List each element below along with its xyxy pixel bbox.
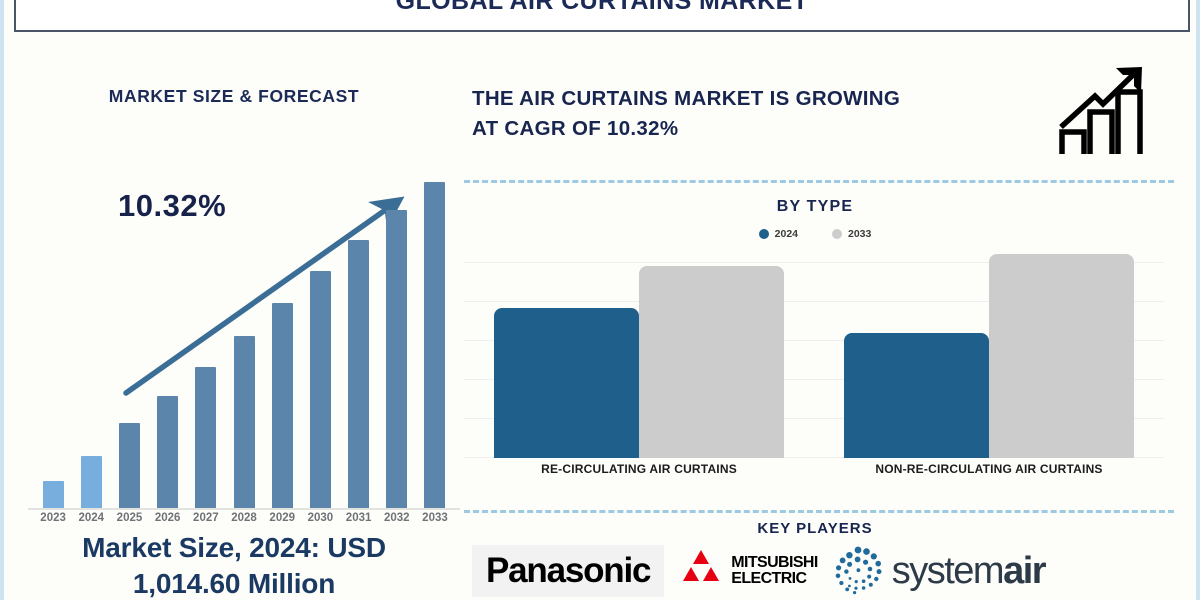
key-players-heading: KEY PLAYERS — [460, 520, 1170, 537]
left-panel-heading: MARKET SIZE & FORECAST — [8, 86, 460, 107]
axis-tick: 2032 — [378, 512, 416, 524]
legend-label: 2033 — [848, 228, 871, 240]
mitsubishi-electric-logo: MITSUBISHI ELECTRIC — [678, 549, 817, 593]
axis-tick: 2025 — [110, 512, 148, 524]
bar-slot — [416, 168, 454, 508]
systemair-logo: systemair — [832, 545, 1045, 597]
mitsubishi-line-2: ELECTRIC — [731, 571, 817, 587]
bar-group-non-re-circulating — [839, 250, 1139, 458]
cagr-statement-line-2: AT CAGR OF 10.32% — [472, 114, 1042, 144]
axis-tick: 2027 — [187, 512, 225, 524]
bar-non-re-circulating-2024 — [844, 333, 989, 458]
bar-2023 — [43, 481, 64, 508]
bar-slot — [263, 168, 301, 508]
legend-dot-icon — [832, 229, 842, 239]
bar-group-re-circulating — [489, 250, 789, 458]
by-type-chart — [464, 250, 1164, 458]
bar-slot — [301, 168, 339, 508]
axis-tick: 2033 — [416, 512, 454, 524]
key-players-logos: Panasonic MITSUBISHI ELECTRIC — [472, 542, 1162, 600]
systemair-dot-spiral-icon — [832, 545, 884, 597]
bar-2029 — [272, 303, 293, 508]
bar-2024 — [81, 456, 102, 508]
market-size-forecast-panel: MARKET SIZE & FORECAST 10.32% — [8, 38, 460, 596]
by-type-heading: BY TYPE — [460, 198, 1170, 216]
year-axis: 2023 2024 2025 2026 2027 2028 2029 2030 … — [34, 512, 454, 524]
bar-2032 — [386, 210, 407, 508]
axis-label-non-re-circulating: NON-RE-CIRCULATING AIR CURTAINS — [824, 462, 1154, 476]
axis-tick: 2024 — [72, 512, 110, 524]
mitsubishi-line-1: MITSUBISHI — [731, 555, 817, 571]
panasonic-logo: Panasonic — [472, 545, 664, 597]
axis-tick: 2031 — [340, 512, 378, 524]
bar-re-circulating-2024 — [494, 308, 639, 458]
page-title: GLOBAL AIR CURTAINS MARKET — [396, 0, 809, 16]
bar-slot — [340, 168, 378, 508]
logo-cell-panasonic: Panasonic — [472, 545, 664, 597]
axis-tick: 2026 — [149, 512, 187, 524]
chart-baseline — [28, 508, 460, 510]
bar-2025 — [119, 423, 140, 508]
bar-non-re-circulating-2033 — [989, 254, 1134, 458]
bar-slot — [149, 168, 187, 508]
logo-cell-systemair: systemair — [832, 545, 1045, 597]
right-panel: THE AIR CURTAINS MARKET IS GROWING AT CA… — [460, 38, 1200, 600]
axis-tick: 2029 — [263, 512, 301, 524]
mitsubishi-three-diamonds-icon — [678, 549, 724, 593]
legend-item-2033: 2033 — [832, 228, 871, 240]
axis-tick: 2028 — [225, 512, 263, 524]
by-type-bars — [464, 250, 1164, 458]
bar-slot — [187, 168, 225, 508]
bar-2031 — [348, 240, 369, 508]
market-size-line-1: Market Size, 2024: USD — [8, 530, 460, 566]
legend-item-2024: 2024 — [759, 228, 798, 240]
bar-slot — [378, 168, 416, 508]
systemair-part-1: system — [892, 550, 1003, 592]
infographic-root: GLOBAL AIR CURTAINS MARKET MARKET SIZE &… — [0, 0, 1200, 600]
by-type-axis: RE-CIRCULATING AIR CURTAINS NON-RE-CIRCU… — [464, 462, 1164, 476]
market-size-bar-chart — [34, 168, 454, 508]
cagr-statement: THE AIR CURTAINS MARKET IS GROWING AT CA… — [472, 84, 1042, 144]
mitsubishi-wordmark: MITSUBISHI ELECTRIC — [731, 555, 817, 587]
bar-2030 — [310, 271, 331, 508]
bar-2028 — [234, 336, 255, 508]
bar-slot — [34, 168, 72, 508]
bar-2027 — [195, 367, 216, 508]
axis-tick: 2023 — [34, 512, 72, 524]
systemair-part-2: air — [1003, 550, 1045, 592]
bar-slot — [225, 168, 263, 508]
legend-label: 2024 — [775, 228, 798, 240]
growth-chart-icon — [1048, 50, 1160, 162]
bar-slot — [72, 168, 110, 508]
legend-dot-icon — [759, 229, 769, 239]
by-type-legend: 2024 2033 — [460, 228, 1170, 240]
divider-top — [464, 180, 1174, 183]
divider-bottom — [464, 510, 1174, 513]
logo-cell-mitsubishi: MITSUBISHI ELECTRIC — [678, 549, 817, 593]
axis-label-re-circulating: RE-CIRCULATING AIR CURTAINS — [474, 462, 804, 476]
bar-2033 — [424, 182, 445, 508]
market-size-line-2: 1,014.60 Million — [8, 566, 460, 600]
cagr-statement-line-1: THE AIR CURTAINS MARKET IS GROWING — [472, 84, 1042, 114]
bar-2026 — [157, 396, 178, 508]
bar-re-circulating-2033 — [639, 266, 784, 458]
title-banner: GLOBAL AIR CURTAINS MARKET — [14, 0, 1190, 32]
bar-slot — [110, 168, 148, 508]
market-size-value: Market Size, 2024: USD 1,014.60 Million — [8, 530, 460, 600]
systemair-wordmark: systemair — [892, 551, 1045, 591]
axis-tick: 2030 — [301, 512, 339, 524]
